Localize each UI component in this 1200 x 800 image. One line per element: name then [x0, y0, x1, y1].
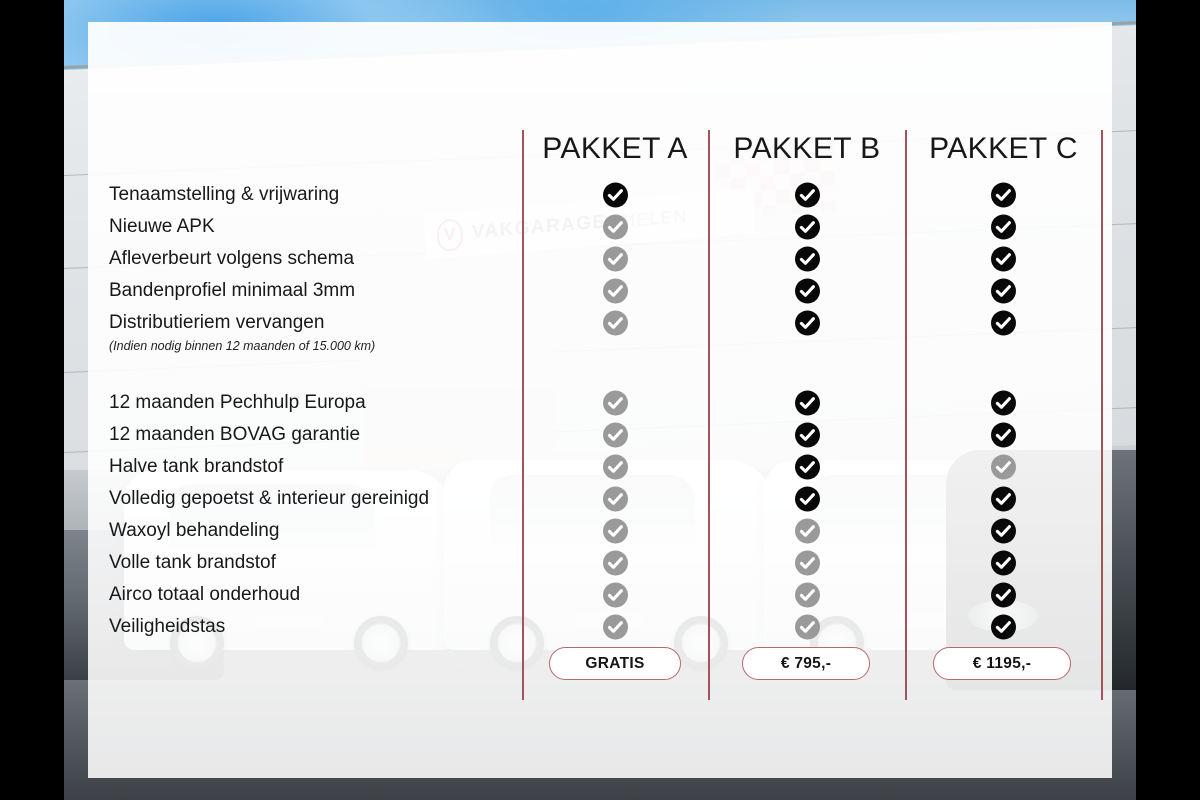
feature-label: Halve tank brandstof — [109, 456, 283, 478]
feature-label: Waxoyl behandeling — [109, 520, 279, 542]
check-cell-pakket-b — [709, 615, 905, 640]
check-cell-pakket-b — [709, 279, 905, 304]
check-cell-pakket-b — [709, 247, 905, 272]
check-cell-pakket-c — [906, 519, 1101, 544]
check-cell-pakket-c — [906, 583, 1101, 608]
check-cell-pakket-b — [709, 551, 905, 576]
check-cell-pakket-b — [709, 423, 905, 448]
check-cell-pakket-c — [906, 551, 1101, 576]
check-included-icon — [991, 487, 1016, 512]
check-cell-pakket-a — [522, 391, 708, 416]
feature-label: Bandenprofiel minimaal 3mm — [109, 280, 355, 302]
check-included-icon — [795, 487, 820, 512]
feature-label: Nieuwe APK — [109, 216, 215, 238]
feature-row: Waxoyl behandeling — [109, 515, 1101, 547]
check-excluded-icon — [603, 391, 628, 416]
check-included-icon — [991, 183, 1016, 208]
check-cell-pakket-a — [522, 455, 708, 480]
feature-label: Distributieriem vervangen — [109, 312, 324, 334]
check-included-icon — [991, 215, 1016, 240]
check-included-icon — [991, 615, 1016, 640]
check-included-icon — [991, 311, 1016, 336]
comparison-panel: PAKKET A PAKKET B PAKKET C Tenaamstellin… — [88, 22, 1112, 778]
feature-row: Distributieriem vervangen — [109, 307, 1101, 339]
feature-row: Afleverbeurt volgens schema — [109, 243, 1101, 275]
column-header-pakket-a: PAKKET A — [522, 132, 708, 166]
check-excluded-icon — [603, 519, 628, 544]
check-cell-pakket-c — [906, 183, 1101, 208]
check-included-icon — [991, 247, 1016, 272]
check-cell-pakket-a — [522, 583, 708, 608]
feature-note-text: (Indien nodig binnen 12 maanden of 15.00… — [109, 339, 375, 353]
check-cell-pakket-c — [906, 279, 1101, 304]
check-excluded-icon — [795, 519, 820, 544]
check-cell-pakket-c — [906, 247, 1101, 272]
check-cell-pakket-c — [906, 215, 1101, 240]
feature-row: 12 maanden Pechhulp Europa — [109, 387, 1101, 419]
feature-row: Halve tank brandstof — [109, 451, 1101, 483]
feature-row: Veiligheidstas — [109, 611, 1101, 643]
column-divider — [1101, 130, 1103, 700]
check-cell-pakket-a — [522, 247, 708, 272]
check-cell-pakket-a — [522, 423, 708, 448]
check-cell-pakket-c — [906, 311, 1101, 336]
feature-row: 12 maanden BOVAG garantie — [109, 419, 1101, 451]
check-excluded-icon — [795, 615, 820, 640]
feature-group-gap — [109, 365, 1101, 387]
check-excluded-icon — [603, 279, 628, 304]
check-cell-pakket-b — [709, 583, 905, 608]
check-cell-pakket-a — [522, 215, 708, 240]
price-button-pakket-a[interactable]: GRATIS — [549, 647, 681, 680]
feature-label: Veiligheidstas — [109, 616, 225, 638]
feature-label: Volle tank brandstof — [109, 552, 276, 574]
check-excluded-icon — [795, 551, 820, 576]
check-included-icon — [991, 551, 1016, 576]
feature-row: Volle tank brandstof — [109, 547, 1101, 579]
check-excluded-icon — [603, 487, 628, 512]
feature-row: Airco totaal onderhoud — [109, 579, 1101, 611]
check-excluded-icon — [603, 215, 628, 240]
feature-row: Tenaamstelling & vrijwaring — [109, 179, 1101, 211]
screenshot-stage: VAKGARAGE GIELEN PAKKET A — [0, 0, 1200, 800]
check-included-icon — [991, 423, 1016, 448]
check-excluded-icon — [603, 311, 628, 336]
check-cell-pakket-b — [709, 183, 905, 208]
feature-label: Tenaamstelling & vrijwaring — [109, 184, 339, 206]
feature-label: 12 maanden Pechhulp Europa — [109, 392, 366, 414]
feature-list: Tenaamstelling & vrijwaringNieuwe APKAfl… — [109, 179, 1101, 643]
check-cell-pakket-b — [709, 519, 905, 544]
check-cell-pakket-b — [709, 215, 905, 240]
feature-row: Bandenprofiel minimaal 3mm — [109, 275, 1101, 307]
check-excluded-icon — [603, 551, 628, 576]
check-excluded-icon — [603, 423, 628, 448]
column-header-pakket-b: PAKKET B — [709, 132, 905, 166]
check-excluded-icon — [603, 455, 628, 480]
check-excluded-icon — [603, 583, 628, 608]
check-excluded-icon — [991, 455, 1016, 480]
check-excluded-icon — [795, 583, 820, 608]
check-cell-pakket-a — [522, 183, 708, 208]
check-included-icon — [991, 519, 1016, 544]
check-cell-pakket-a — [522, 487, 708, 512]
feature-row: Nieuwe APK — [109, 211, 1101, 243]
check-included-icon — [603, 183, 628, 208]
check-included-icon — [991, 583, 1016, 608]
check-cell-pakket-c — [906, 615, 1101, 640]
check-cell-pakket-a — [522, 551, 708, 576]
check-included-icon — [795, 455, 820, 480]
check-cell-pakket-c — [906, 423, 1101, 448]
price-button-pakket-b[interactable]: € 795,- — [742, 647, 870, 680]
check-cell-pakket-c — [906, 391, 1101, 416]
check-included-icon — [795, 215, 820, 240]
check-included-icon — [991, 391, 1016, 416]
check-excluded-icon — [603, 615, 628, 640]
check-cell-pakket-c — [906, 455, 1101, 480]
feature-label: Volledig gepoetst & interieur gereinigd — [109, 488, 429, 510]
check-cell-pakket-b — [709, 391, 905, 416]
feature-label: Airco totaal onderhoud — [109, 584, 300, 606]
check-included-icon — [991, 279, 1016, 304]
check-included-icon — [795, 391, 820, 416]
check-cell-pakket-b — [709, 487, 905, 512]
check-included-icon — [795, 247, 820, 272]
check-cell-pakket-b — [709, 311, 905, 336]
check-included-icon — [795, 279, 820, 304]
check-cell-pakket-a — [522, 311, 708, 336]
check-cell-pakket-a — [522, 615, 708, 640]
check-cell-pakket-a — [522, 279, 708, 304]
check-cell-pakket-b — [709, 455, 905, 480]
feature-label: Afleverbeurt volgens schema — [109, 248, 354, 270]
feature-row: Volledig gepoetst & interieur gereinigd — [109, 483, 1101, 515]
check-excluded-icon — [603, 247, 628, 272]
check-included-icon — [795, 423, 820, 448]
feature-note: (Indien nodig binnen 12 maanden of 15.00… — [109, 339, 1101, 365]
price-button-pakket-c[interactable]: € 1195,- — [933, 647, 1071, 680]
check-included-icon — [795, 183, 820, 208]
check-included-icon — [795, 311, 820, 336]
feature-label: 12 maanden BOVAG garantie — [109, 424, 360, 446]
column-header-pakket-c: PAKKET C — [906, 132, 1101, 166]
check-cell-pakket-c — [906, 487, 1101, 512]
check-cell-pakket-a — [522, 519, 708, 544]
